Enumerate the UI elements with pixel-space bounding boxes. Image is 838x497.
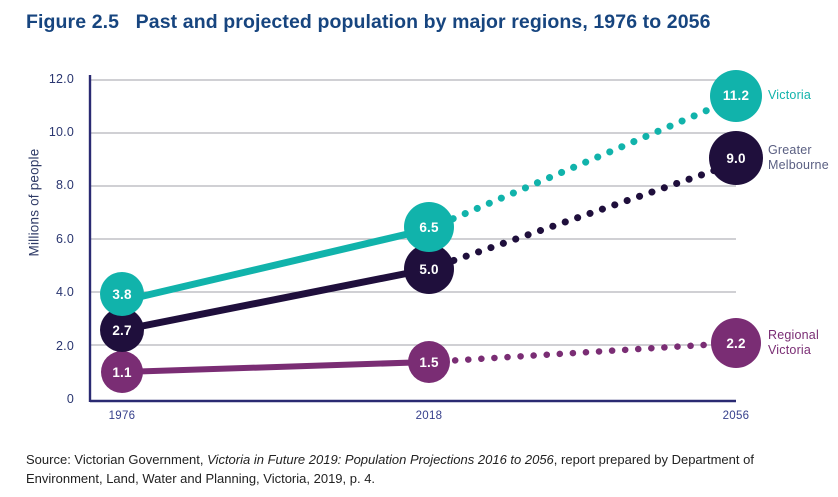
series-line-regional-victoria-dotted xyxy=(429,343,736,362)
source-prefix: Source: Victorian Government, xyxy=(26,452,207,467)
data-point-value: 1.1 xyxy=(96,365,148,380)
data-point-value: 3.8 xyxy=(96,287,148,302)
data-point-value: 11.2 xyxy=(710,88,762,103)
data-point-value: 2.7 xyxy=(96,323,148,338)
data-point-value: 1.5 xyxy=(403,355,455,370)
series-line-greater-melbourne-dotted xyxy=(429,163,736,269)
series-line-regional-victoria-solid xyxy=(122,362,429,372)
source-note: Source: Victorian Government, Victoria i… xyxy=(26,450,816,488)
figure-container: Figure 2.5 Past and projected population… xyxy=(0,0,838,497)
x-tick-label: 2056 xyxy=(691,410,781,422)
series-label-victoria: Victoria xyxy=(768,88,811,103)
data-point-value: 6.5 xyxy=(403,220,455,235)
data-point-value: 9.0 xyxy=(710,151,762,166)
series-line-victoria-solid xyxy=(122,229,429,301)
chart-plot-area: Millions of people 12.0 10.0 8.0 6.0 4.0… xyxy=(0,55,838,430)
series-label-regional-victoria: Regional Victoria xyxy=(768,328,834,358)
series-line-victoria-dotted xyxy=(429,98,736,229)
source-title: Victoria in Future 2019: Population Proj… xyxy=(207,452,554,467)
data-point-value: 5.0 xyxy=(403,262,455,277)
series-label-greater-melbourne: Greater Melbourne xyxy=(768,143,834,173)
x-tick-label: 1976 xyxy=(77,410,167,422)
data-point-value: 2.2 xyxy=(710,336,762,351)
x-tick-label: 2018 xyxy=(384,410,474,422)
series-line-greater-melbourne-solid xyxy=(122,269,429,330)
page-title: Figure 2.5 Past and projected population… xyxy=(26,11,711,34)
